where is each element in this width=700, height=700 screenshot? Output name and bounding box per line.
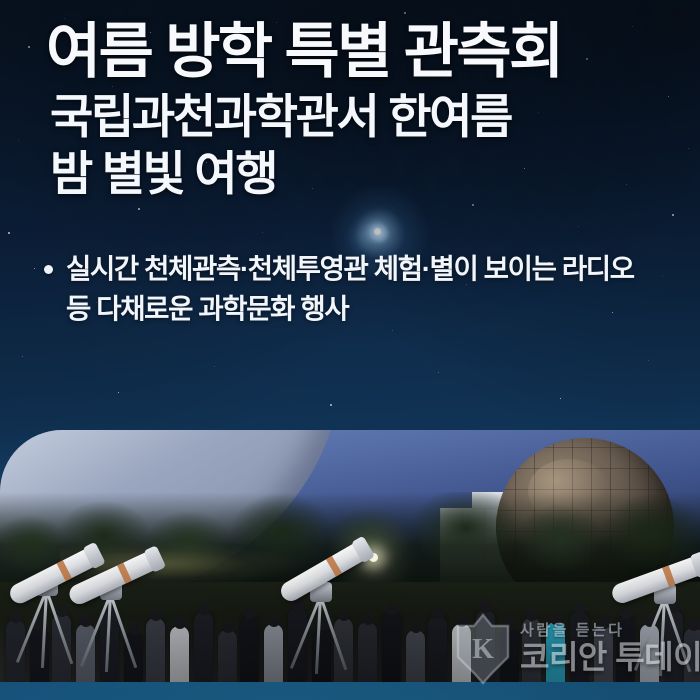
subtitle-line-1: 국립과천과학관서 한여름 — [0, 85, 700, 145]
telescope-focus-ring — [662, 566, 675, 587]
telescope-focus-ring — [56, 560, 71, 581]
bullet-item-text: 실시간 천체관측·천체투영관 체험·별이 보이는 라디오 등 다채로운 과학문화… — [66, 249, 646, 329]
poster-text-block: 여름 방학 특별 관측회 국립과천과학관서 한여름 밤 별빛 여행 실시간 천체… — [0, 0, 700, 329]
telescope-tripod — [288, 596, 354, 674]
telescope-focus-ring — [117, 563, 132, 584]
list-item: 실시간 천체관측·천체투영관 체험·별이 보이는 라디오 등 다채로운 과학문화… — [0, 202, 700, 329]
event-poster: 여름 방학 특별 관측회 국립과천과학관서 한여름 밤 별빛 여행 실시간 천체… — [0, 0, 700, 700]
bullet-dot-icon — [44, 265, 53, 274]
watermark-text: 사람을 듣는다 코리안 투데이 — [520, 623, 700, 675]
watermark-brand: 코리안 투데이 — [520, 641, 700, 675]
svg-text:K: K — [472, 634, 494, 665]
watermark: K 사람을 듣는다 코리안 투데이 — [452, 612, 688, 686]
telescope-tripod — [78, 594, 144, 672]
watermark-tagline: 사람을 듣는다 — [520, 623, 700, 638]
subtitle-line-2: 밤 별빛 여행 — [0, 145, 700, 202]
telescope-focus-ring — [326, 556, 342, 577]
page-title: 여름 방학 특별 관측회 — [0, 0, 700, 85]
korean-today-shield-logo-icon: K — [452, 613, 514, 685]
